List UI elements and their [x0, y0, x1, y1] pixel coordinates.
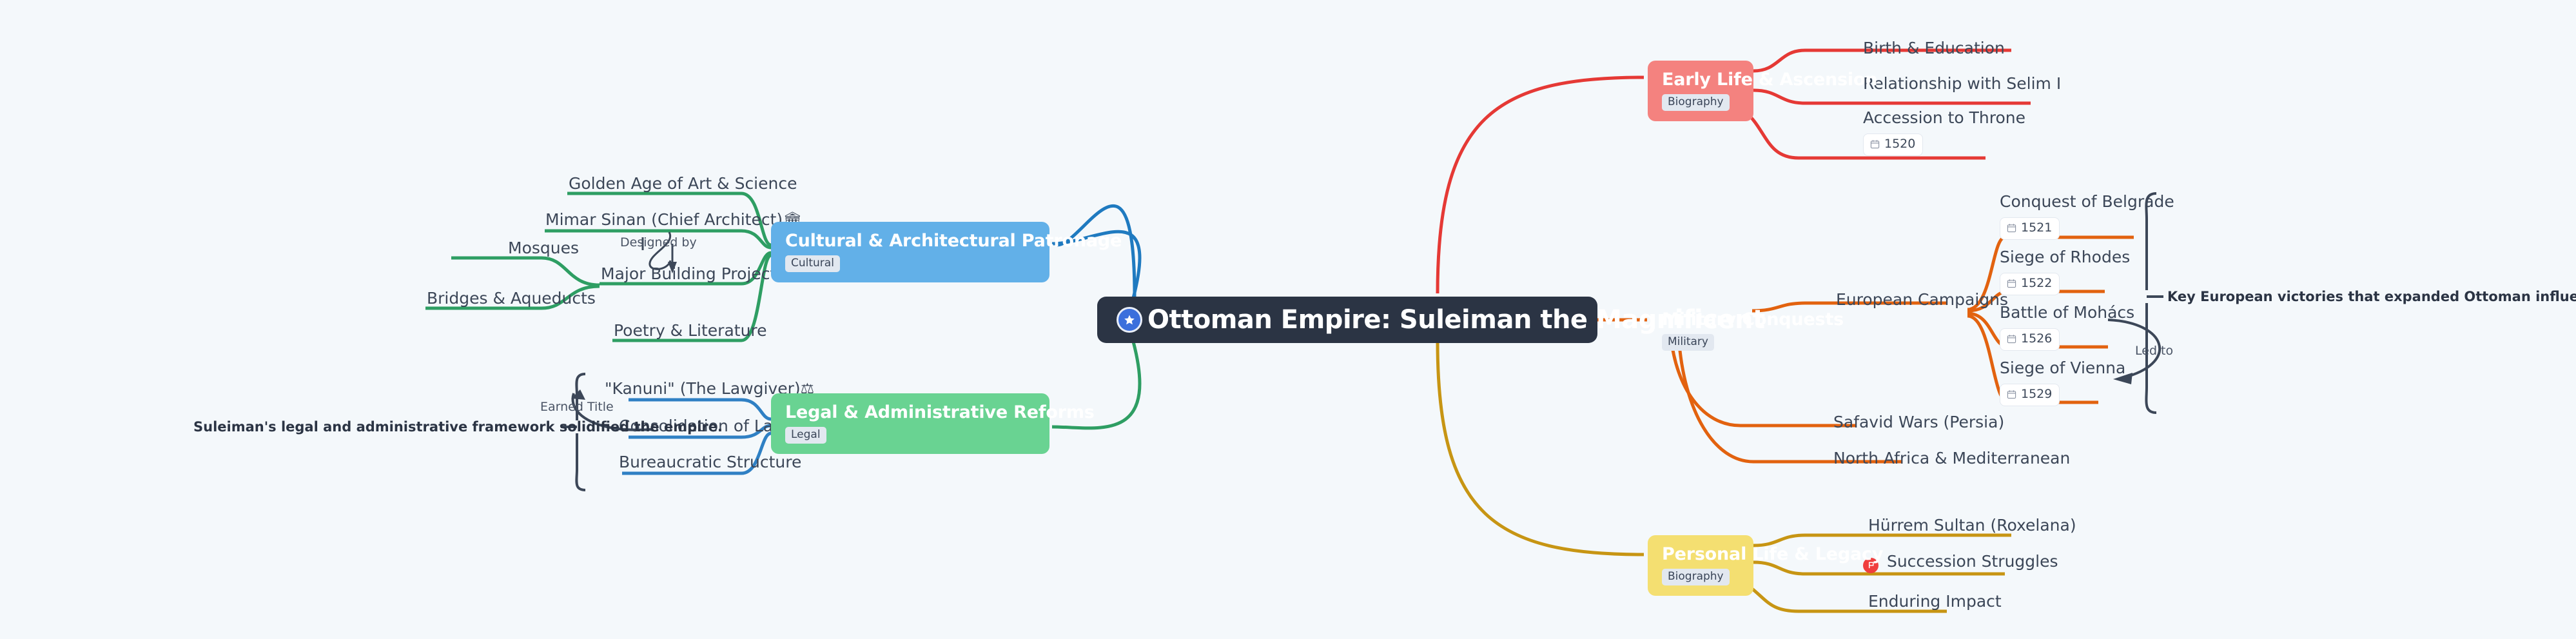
leaf-siege-vienna[interactable]: Siege of Vienna 1529 [2000, 359, 2125, 406]
date-badge: 1522 [2000, 273, 2060, 295]
branch-title: Cultural & Architectural Patronage [785, 231, 1035, 251]
edge-label-designed-by: Designed by [620, 235, 697, 250]
branch-title: Legal & Administrative Reforms [785, 402, 1035, 422]
leaf-conquest-belgrade[interactable]: Conquest of Belgrade 1521 [2000, 192, 2174, 240]
branch-node-legal[interactable]: Legal & Administrative Reforms Legal [771, 393, 1049, 454]
leaf-label: Conquest of Belgrade [2000, 192, 2174, 211]
annotation-legal-bracket: Suleiman's legal and administrative fram… [193, 419, 723, 435]
leaf-label: Birth & Education [1863, 39, 2005, 58]
branch-tag: Cultural [785, 255, 840, 272]
date-value: 1526 [2021, 331, 2052, 347]
leaf-label: Mosques [508, 239, 579, 258]
leaf-label: Battle of Mohács [2000, 303, 2134, 322]
leaf-battle-mohacs[interactable]: Battle of Mohács 1526 [2000, 303, 2134, 351]
calendar-icon [2007, 389, 2016, 399]
leaf-bridges-aqueducts[interactable]: Bridges & Aqueducts [427, 289, 596, 308]
leaf-north-africa[interactable]: North Africa & Mediterranean [1833, 449, 2070, 468]
branch-node-early-life[interactable]: Early Life & Ascension Biography [1648, 61, 1753, 121]
date-badge: 1521 [2000, 217, 2060, 240]
leaf-mosques[interactable]: Mosques [508, 239, 579, 258]
leaf-label: Siege of Rhodes [2000, 248, 2130, 267]
date-value: 1520 [1884, 137, 1915, 152]
leaf-hurrem-sultan[interactable]: Hürrem Sultan (Roxelana) [1868, 516, 2076, 535]
leaf-label: Relationship with Selim I [1863, 74, 2061, 93]
edge-label-earned-title: Earned Title [540, 400, 614, 414]
leaf-european-campaigns[interactable]: European Campaigns [1836, 290, 2008, 310]
leaf-label: Succession Struggles [1887, 552, 2058, 571]
branch-tag: Legal [785, 427, 826, 444]
mindmap-canvas: Ottoman Empire: Suleiman the Magnificent… [0, 0, 2576, 639]
leaf-label: European Campaigns [1836, 290, 2008, 310]
root-label: Ottoman Empire: Suleiman the Magnificent [1147, 305, 1765, 335]
leaf-label: Enduring Impact [1868, 592, 2002, 611]
date-badge: 1526 [2000, 328, 2060, 351]
leaf-safavid-wars[interactable]: Safavid Wars (Persia) [1833, 413, 2004, 432]
leaf-label: Safavid Wars (Persia) [1833, 413, 2004, 432]
branch-title: Early Life & Ascension [1662, 70, 1739, 90]
edge-label-led-to: Led to [2135, 344, 2173, 358]
leaf-bureaucratic-structure[interactable]: Bureaucratic Structure [619, 453, 801, 472]
star-badge-icon [1117, 307, 1142, 333]
branch-node-personal[interactable]: Personal Life & Legacy Biography [1648, 535, 1753, 596]
leaf-mimar-sinan[interactable]: Mimar Sinan (Chief Architect)🏛 [545, 210, 803, 230]
leaf-major-building-projects[interactable]: Major Building Projects [601, 264, 785, 284]
root-node[interactable]: Ottoman Empire: Suleiman the Magnificent [1097, 297, 1597, 343]
leaf-label: Mimar Sinan (Chief Architect) [545, 210, 783, 230]
leaf-label: Accession to Throne [1863, 108, 2025, 128]
branch-title: Personal Life & Legacy [1662, 544, 1739, 564]
annotation-military-bracket: Key European victories that expanded Ott… [2167, 289, 2576, 304]
branch-node-cultural[interactable]: Cultural & Architectural Patronage Cultu… [771, 222, 1049, 282]
leaf-label: Siege of Vienna [2000, 359, 2125, 378]
leaf-poetry-literature[interactable]: Poetry & Literature [614, 321, 767, 340]
branch-tag: Biography [1662, 569, 1730, 585]
date-badge: 1529 [2000, 384, 2060, 406]
date-value: 1529 [2021, 387, 2052, 402]
leaf-label: Hürrem Sultan (Roxelana) [1868, 516, 2076, 535]
leaf-relationship-selim[interactable]: Relationship with Selim I [1863, 74, 2061, 93]
leaf-enduring-impact[interactable]: Enduring Impact [1868, 592, 2002, 611]
calendar-icon [1870, 139, 1880, 149]
date-value: 1521 [2021, 221, 2052, 236]
leaf-birth-education[interactable]: Birth & Education [1863, 39, 2005, 58]
date-badge: 1520 [1863, 133, 1923, 156]
branch-tag: Military [1662, 334, 1714, 351]
leaf-golden-age[interactable]: Golden Age of Art & Science [569, 174, 797, 193]
calendar-icon [2007, 279, 2016, 288]
leaf-label: "Kanuni" (The Lawgiver) [605, 379, 801, 398]
leaf-label: Bureaucratic Structure [619, 453, 801, 472]
branch-tag: Biography [1662, 94, 1730, 111]
leaf-label: Poetry & Literature [614, 321, 767, 340]
calendar-icon [2007, 223, 2016, 233]
leaf-siege-rhodes[interactable]: Siege of Rhodes 1522 [2000, 248, 2130, 295]
date-value: 1522 [2021, 276, 2052, 291]
leaf-label: Golden Age of Art & Science [569, 174, 797, 193]
leaf-accession-throne[interactable]: Accession to Throne 1520 [1863, 108, 2025, 156]
leaf-label: North Africa & Mediterranean [1833, 449, 2070, 468]
calendar-icon [2007, 334, 2016, 344]
leaf-label: Bridges & Aqueducts [427, 289, 596, 308]
leaf-succession-struggles[interactable]: Succession Struggles [1863, 552, 2058, 573]
leaf-label: Major Building Projects [601, 264, 785, 284]
